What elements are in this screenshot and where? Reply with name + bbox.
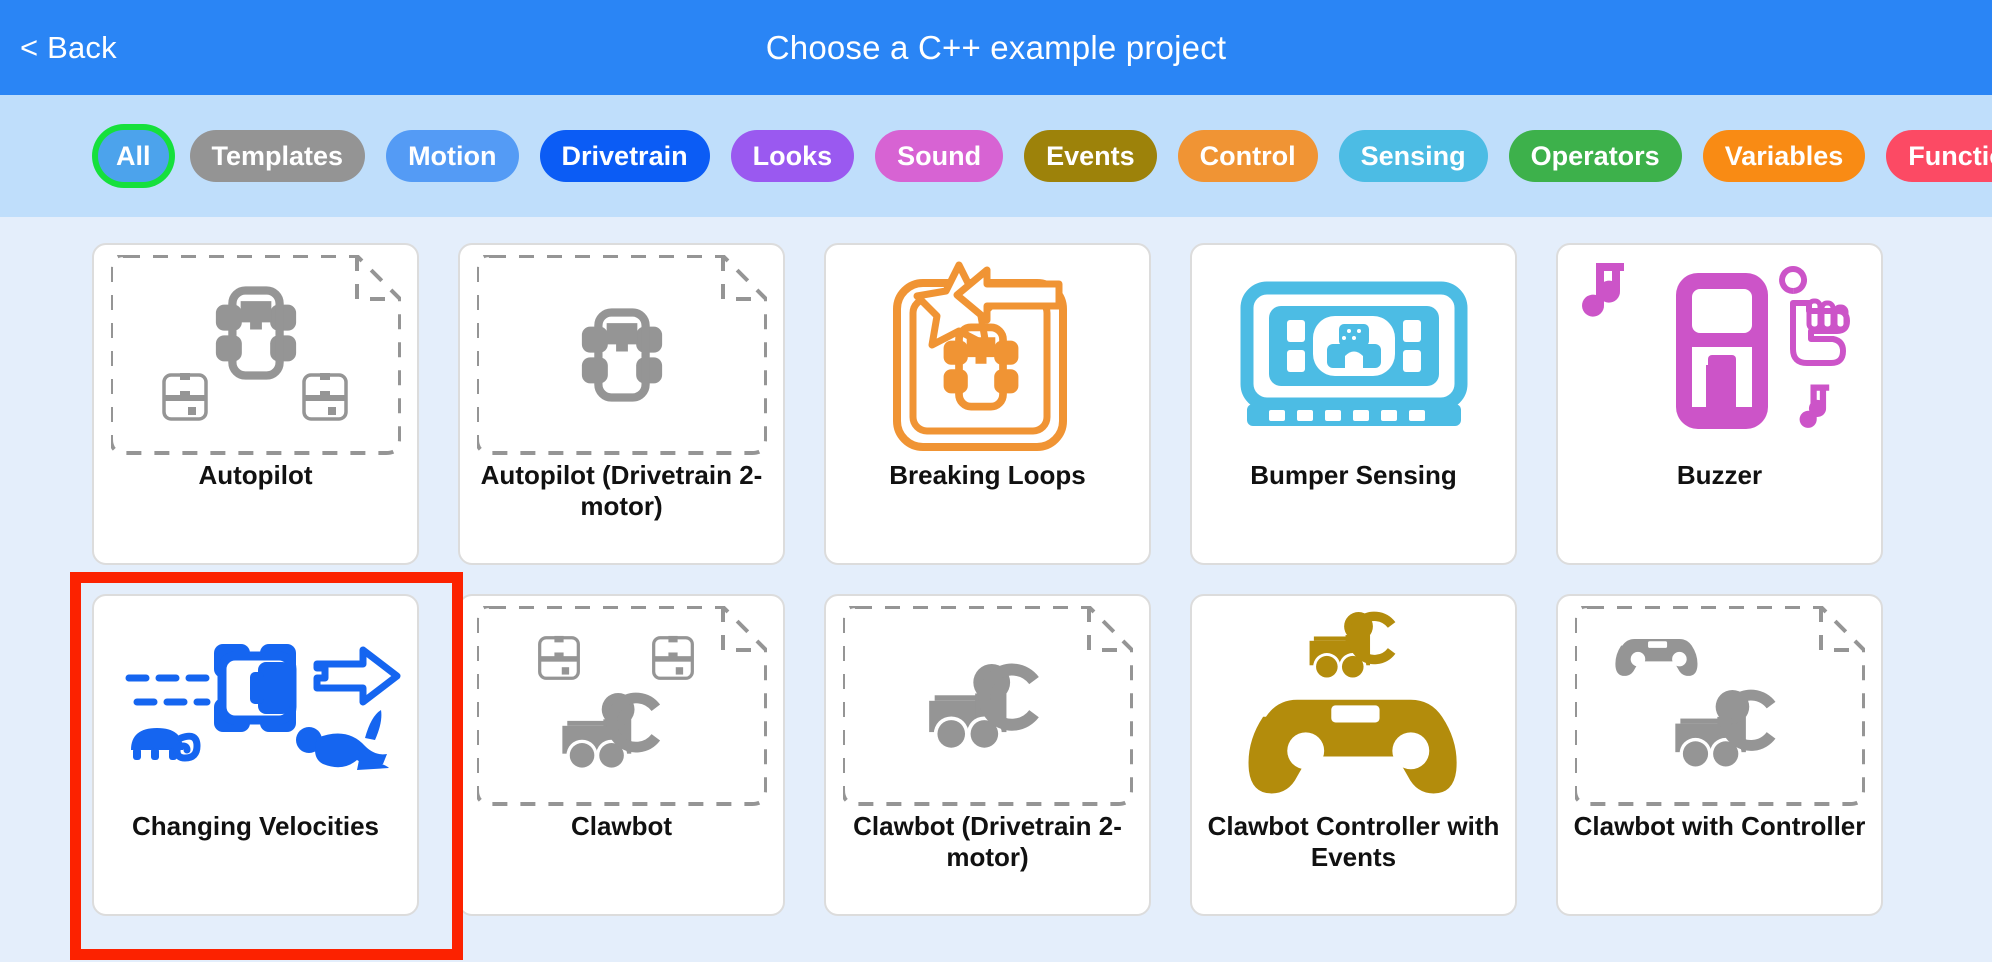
filter-pill-control[interactable]: Control <box>1178 130 1318 182</box>
filter-pill-label: Drivetrain <box>562 141 688 172</box>
back-button[interactable]: < Back <box>20 30 117 66</box>
project-card[interactable]: Autopilot <box>92 243 419 565</box>
card-slot: Clawbot Controller with Events <box>1190 594 1517 916</box>
filter-pill-label: Motion <box>408 141 496 172</box>
project-grid-row: Changing Velocities Clawbot <box>0 594 1992 916</box>
filter-pill-motion[interactable]: Motion <box>386 130 518 182</box>
filter-pill-label: Sound <box>897 141 981 172</box>
robot-dashed-icon <box>460 245 783 460</box>
project-card-label: Autopilot <box>94 460 417 563</box>
project-card-label: Clawbot <box>460 811 783 914</box>
page-title: Choose a C++ example project <box>0 29 1992 67</box>
project-card[interactable]: Clawbot (Drivetrain 2-motor) <box>824 594 1151 916</box>
loop-star-arrow-robot-icon <box>826 245 1149 460</box>
project-card-label: Breaking Loops <box>826 460 1149 563</box>
project-card-label: Clawbot with Controller <box>1558 811 1881 914</box>
clawbot-controller-icon <box>1192 596 1515 811</box>
card-slot: Autopilot <box>92 243 419 565</box>
brain-music-notes-hand-icon <box>1558 245 1881 460</box>
app-header: < Back Choose a C++ example project <box>0 0 1992 95</box>
project-card-label: Autopilot (Drivetrain 2-motor) <box>460 460 783 563</box>
project-card[interactable]: Bumper Sensing <box>1190 243 1517 565</box>
filter-pill-sound[interactable]: Sound <box>875 130 1003 182</box>
filter-pill-label: Control <box>1200 141 1296 172</box>
clawbot-dashed-icon <box>826 596 1149 811</box>
card-slot: Clawbot (Drivetrain 2-motor) <box>824 594 1151 916</box>
filter-pill-label: Operators <box>1531 141 1660 172</box>
selection-highlight-box: Changing Velocities <box>92 594 419 916</box>
clawbot-dashed-two-sensors-icon <box>460 596 783 811</box>
filter-pill-label: All <box>116 141 151 172</box>
project-card[interactable]: Breaking Loops <box>824 243 1151 565</box>
project-card[interactable]: Buzzer <box>1556 243 1883 565</box>
project-card-label: Changing Velocities <box>94 811 417 914</box>
project-card[interactable]: Changing Velocities <box>92 594 419 916</box>
bumper-switch-icon <box>1192 245 1515 460</box>
filter-pill-drivetrain[interactable]: Drivetrain <box>540 130 710 182</box>
project-card[interactable]: Clawbot <box>458 594 785 916</box>
card-slot: Clawbot <box>458 594 785 916</box>
robot-dashed-two-sensors-icon <box>94 245 417 460</box>
card-slot: Breaking Loops <box>824 243 1151 565</box>
filter-pill-label: Variables <box>1725 141 1844 172</box>
filter-pill-events[interactable]: Events <box>1024 130 1157 182</box>
filter-pill-variables[interactable]: Variables <box>1703 130 1866 182</box>
filter-pill-sensing[interactable]: Sensing <box>1339 130 1488 182</box>
project-card[interactable]: Clawbot Controller with Events <box>1190 594 1517 916</box>
filter-pill-all[interactable]: All <box>98 130 169 182</box>
filter-pill-looks[interactable]: Looks <box>731 130 855 182</box>
filter-pill-label: Events <box>1046 141 1135 172</box>
filter-pill-label: Templates <box>212 141 344 172</box>
project-card-label: Bumper Sensing <box>1192 460 1515 563</box>
robot-turtle-rabbit-icon <box>94 596 417 811</box>
filter-pill-label: Functions <box>1908 141 1992 172</box>
project-grid-row: Autopilot Autopilot (Drivetrain 2-motor)… <box>0 243 1992 565</box>
card-slot: Buzzer <box>1556 243 1883 565</box>
project-card-label: Clawbot (Drivetrain 2-motor) <box>826 811 1149 914</box>
card-slot: Bumper Sensing <box>1190 243 1517 565</box>
filter-pill-operators[interactable]: Operators <box>1509 130 1682 182</box>
project-card[interactable]: Clawbot with Controller <box>1556 594 1883 916</box>
project-card-label: Buzzer <box>1558 460 1881 563</box>
filter-pill-label: Sensing <box>1361 141 1466 172</box>
category-filter-bar: AllTemplatesMotionDrivetrainLooksSoundEv… <box>0 95 1992 217</box>
clawbot-gamepad-dashed-icon <box>1558 596 1881 811</box>
filter-pill-functions[interactable]: Functions <box>1886 130 1992 182</box>
filter-pill-label: Looks <box>753 141 833 172</box>
card-slot: Autopilot (Drivetrain 2-motor) <box>458 243 785 565</box>
project-grid: Autopilot Autopilot (Drivetrain 2-motor)… <box>0 217 1992 962</box>
card-slot: Clawbot with Controller <box>1556 594 1883 916</box>
project-card[interactable]: Autopilot (Drivetrain 2-motor) <box>458 243 785 565</box>
project-card-label: Clawbot Controller with Events <box>1192 811 1515 914</box>
filter-pill-templates[interactable]: Templates <box>190 130 366 182</box>
